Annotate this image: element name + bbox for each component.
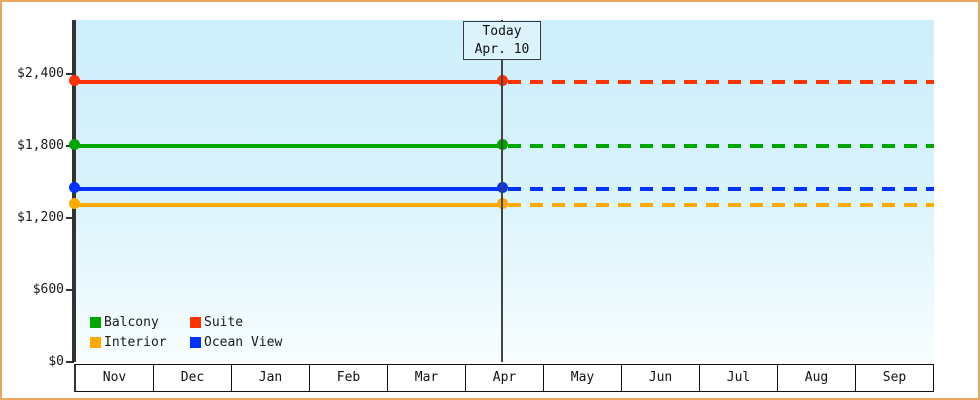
y-tick-mark — [66, 361, 74, 363]
x-axis-month-nov[interactable]: Nov — [76, 365, 154, 391]
y-tick-mark — [66, 217, 74, 219]
today-label-box: Today Apr. 10 — [463, 21, 541, 60]
today-label-date: Apr. 10 — [464, 41, 540, 59]
y-tick-label: $2,400 — [2, 66, 64, 81]
x-axis-month-dec[interactable]: Dec — [154, 365, 232, 391]
legend-item-interior[interactable]: Interior — [90, 335, 190, 350]
y-tick-label: $0 — [2, 354, 64, 369]
x-axis-month-jun[interactable]: Jun — [622, 365, 700, 391]
legend-label-interior: Interior — [104, 335, 167, 350]
y-tick-label: $1,200 — [2, 210, 64, 225]
legend-row: Balcony Suite — [90, 312, 282, 332]
series-marker-balcony-start — [69, 139, 80, 150]
x-axis-month-jan[interactable]: Jan — [232, 365, 310, 391]
series-marker-suite-start — [69, 75, 80, 86]
series-line-interior-forecast — [508, 203, 934, 207]
series-line-interior — [76, 203, 503, 207]
chart-legend: Balcony Suite Interior Ocean View — [90, 312, 282, 352]
series-marker-interior-start — [69, 198, 80, 209]
price-history-chart: $0 $600 $1,200 $1,800 $2,400 Today Apr. … — [0, 0, 980, 400]
series-line-suite-forecast — [508, 80, 934, 84]
x-axis-month-apr[interactable]: Apr — [466, 365, 544, 391]
legend-item-balcony[interactable]: Balcony — [90, 315, 190, 330]
y-tick-mark — [66, 289, 74, 291]
today-vertical-line — [501, 20, 503, 362]
legend-label-suite: Suite — [204, 315, 243, 330]
x-axis-month-sep[interactable]: Sep — [856, 365, 933, 391]
legend-swatch-ocean-view-icon — [190, 337, 201, 348]
x-axis-month-may[interactable]: May — [544, 365, 622, 391]
legend-label-ocean-view: Ocean View — [204, 335, 282, 350]
series-line-suite — [76, 80, 503, 84]
legend-swatch-suite-icon — [190, 317, 201, 328]
y-tick-label: $1,800 — [2, 138, 64, 153]
x-axis-month-band: Nov Dec Jan Feb Mar Apr May Jun Jul Aug … — [74, 364, 934, 392]
legend-swatch-interior-icon — [90, 337, 101, 348]
x-axis-month-aug[interactable]: Aug — [778, 365, 856, 391]
today-label-title: Today — [464, 23, 540, 41]
legend-label-balcony: Balcony — [104, 315, 159, 330]
legend-row: Interior Ocean View — [90, 332, 282, 352]
series-line-ocean-view-forecast — [508, 187, 934, 191]
y-tick-label: $600 — [2, 282, 64, 297]
x-axis-month-feb[interactable]: Feb — [310, 365, 388, 391]
legend-item-ocean-view[interactable]: Ocean View — [190, 335, 282, 350]
x-axis-month-mar[interactable]: Mar — [388, 365, 466, 391]
legend-item-suite[interactable]: Suite — [190, 315, 243, 330]
series-line-balcony — [76, 144, 503, 148]
series-line-ocean-view — [76, 187, 503, 191]
x-axis-month-jul[interactable]: Jul — [700, 365, 778, 391]
legend-swatch-balcony-icon — [90, 317, 101, 328]
series-marker-ocean-view-start — [69, 182, 80, 193]
series-line-balcony-forecast — [508, 144, 934, 148]
